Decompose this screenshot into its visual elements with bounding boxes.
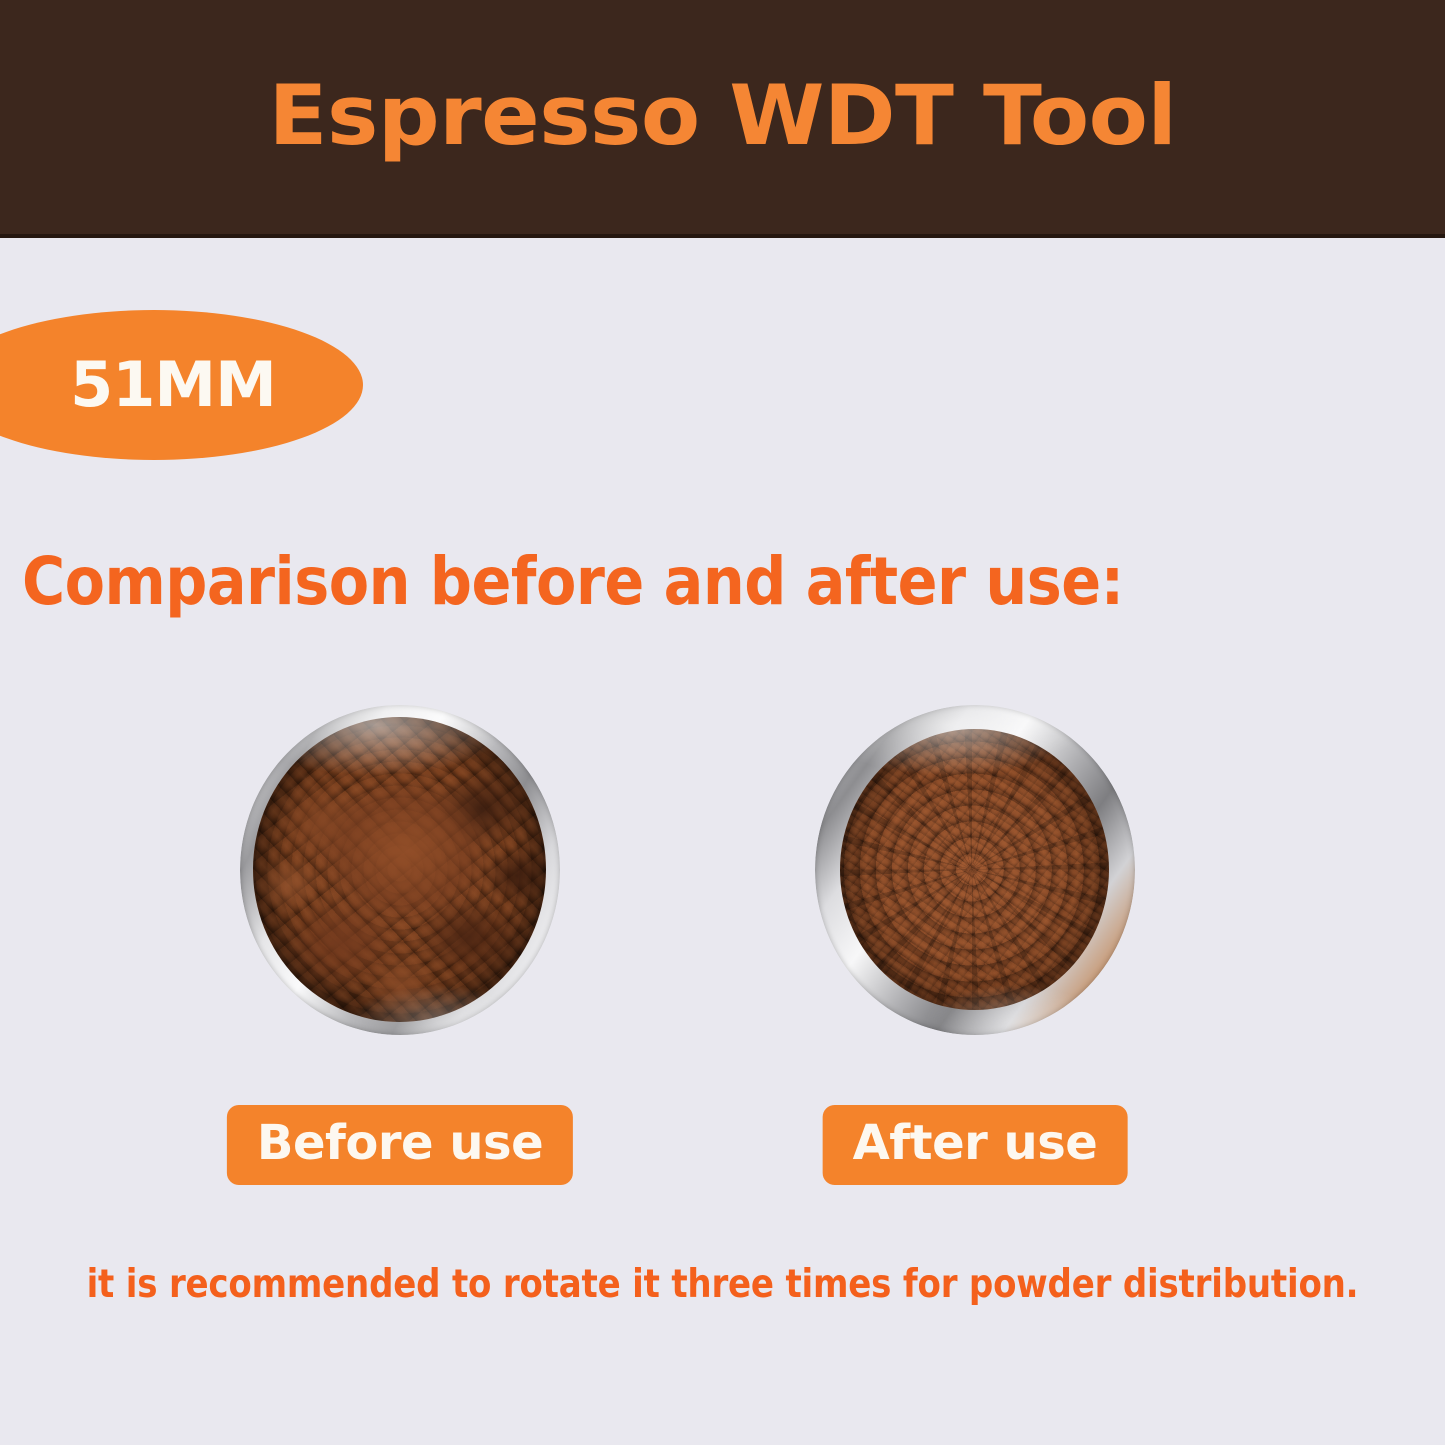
page-title: Espresso WDT Tool <box>269 74 1177 161</box>
after-use-label: After use <box>853 1115 1098 1171</box>
coffee-grounds-uneven <box>253 717 546 1022</box>
size-badge: 51MM <box>0 310 363 460</box>
comparison-item-after: After use <box>735 700 1215 1190</box>
coffee-grounds-uneven-basket-image <box>240 705 560 1035</box>
before-use-label: Before use <box>257 1115 543 1171</box>
comparison-row: Before use After use <box>0 700 1445 1190</box>
comparison-heading: Comparison before and after use: <box>22 546 1124 619</box>
header-bar: Espresso WDT Tool <box>0 0 1445 234</box>
usage-note: it is recommended to rotate it three tim… <box>22 1262 1424 1309</box>
coffee-grounds-even <box>840 729 1109 1010</box>
before-use-badge: Before use <box>227 1105 573 1185</box>
comparison-item-before: Before use <box>160 700 640 1190</box>
size-badge-label: 51MM <box>32 354 276 416</box>
after-use-badge: After use <box>823 1105 1128 1185</box>
header-divider <box>0 234 1445 238</box>
product-infographic: Espresso WDT Tool 51MM Comparison before… <box>0 0 1445 1445</box>
coffee-grounds-even-basket-image <box>815 705 1135 1035</box>
